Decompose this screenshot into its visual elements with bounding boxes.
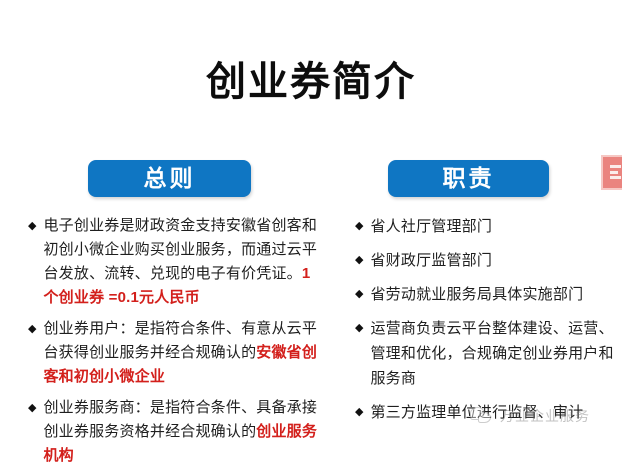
list-item: ◆运营商负责云平台整体建设、运营、管理和优化，合规确定创业券用户和服务商	[355, 316, 617, 391]
edge-badge-icon	[601, 155, 622, 190]
list-item: ◆省劳动就业服务局具体实施部门	[355, 282, 617, 307]
list-item-text: 省人社厅管理部门	[370, 214, 617, 239]
section-banner-general-label: 总则	[144, 167, 196, 190]
list-item: ◆电子创业券是财政资金支持安徽省创客和初创小微企业购买创业服务，而通过云平台发放…	[28, 214, 324, 310]
body-text: 省人社厅管理部门	[370, 218, 492, 235]
body-text: 运营商负责云平台整体建设、运营、管理和优化，合规确定创业券用户和服务商	[370, 320, 613, 387]
list-item-text: 电子创业券是财政资金支持安徽省创客和初创小微企业购买创业服务，而通过云平台发放、…	[43, 214, 324, 310]
list-item-text: 运营商负责云平台整体建设、运营、管理和优化，合规确定创业券用户和服务商	[370, 316, 617, 391]
list-item: ◆创业券用户：是指符合条件、有意从云平台获得创业服务并经合规确认的安徽省创客和初…	[28, 317, 324, 389]
bullet-list-general: ◆电子创业券是财政资金支持安徽省创客和初创小微企业购买创业服务，而通过云平台发放…	[28, 214, 324, 475]
diamond-bullet-icon: ◆	[28, 317, 36, 341]
list-item: ◆省人社厅管理部门	[355, 214, 617, 239]
diamond-bullet-icon: ◆	[355, 248, 363, 272]
section-banner-responsibilities: 职责	[388, 160, 549, 197]
bullet-list-responsibilities: ◆省人社厅管理部门◆省财政厅监管部门◆省劳动就业服务局具体实施部门◆运营商负责云…	[355, 214, 617, 434]
diamond-bullet-icon: ◆	[355, 316, 363, 340]
list-item: ◆省财政厅监管部门	[355, 248, 617, 273]
body-text: 省劳动就业服务局具体实施部门	[370, 286, 583, 303]
diamond-bullet-icon: ◆	[355, 282, 363, 306]
list-item-text: 省劳动就业服务局具体实施部门	[370, 282, 617, 307]
list-item-text: 创业券用户：是指符合条件、有意从云平台获得创业服务并经合规确认的安徽省创客和初创…	[43, 317, 324, 389]
body-text: 电子创业券是财政资金支持安徽省创客和初创小微企业购买创业服务，而通过云平台发放、…	[43, 217, 317, 282]
diamond-bullet-icon: ◆	[28, 396, 36, 420]
watermark-label: 万业企业服务	[500, 407, 590, 425]
diamond-bullet-icon: ◆	[355, 214, 363, 238]
section-banner-responsibilities-label: 职责	[443, 167, 495, 190]
list-item: ◆创业券服务商：是指符合条件、具备承接创业券服务资格并经合规确认的创业服务机构	[28, 396, 324, 468]
diamond-bullet-icon: ◆	[28, 214, 36, 238]
watermark: 万业企业服务	[470, 406, 590, 426]
body-text: 省财政厅监管部门	[370, 252, 492, 269]
list-item-text: 省财政厅监管部门	[370, 248, 617, 273]
slide-canvas: 创业券简介 总则 职责 ◆电子创业券是财政资金支持安徽省创客和初创小微企业购买创…	[0, 0, 622, 438]
wechat-logo-icon	[470, 406, 492, 426]
page-title: 创业券简介	[0, 58, 622, 106]
diamond-bullet-icon: ◆	[355, 400, 363, 424]
section-banner-general: 总则	[88, 160, 251, 197]
list-item-text: 创业券服务商：是指符合条件、具备承接创业券服务资格并经合规确认的创业服务机构	[43, 396, 324, 468]
